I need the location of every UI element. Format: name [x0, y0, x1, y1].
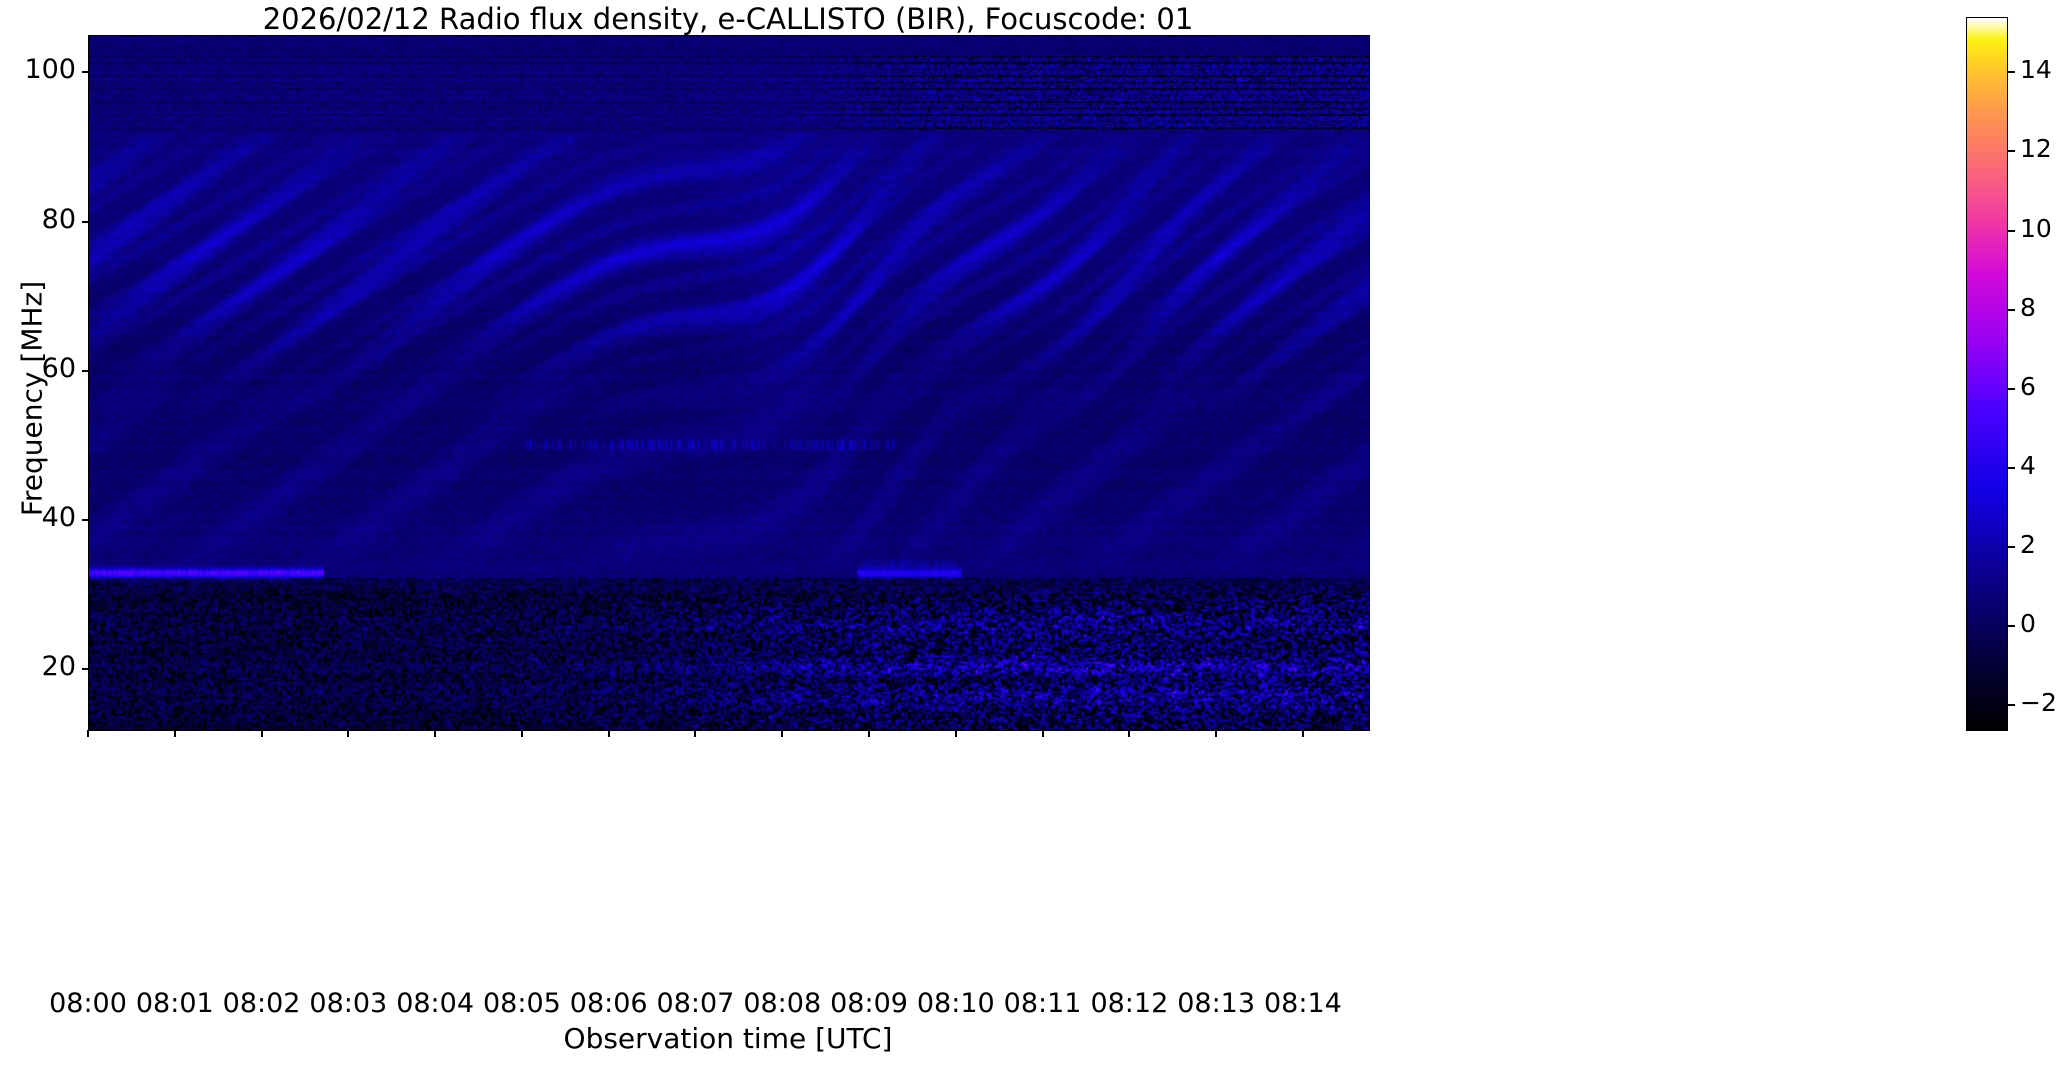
x-tick-mark [868, 730, 870, 737]
y-tick-label: 40 [0, 502, 76, 533]
colorbar[interactable] [1966, 17, 2008, 731]
spectrogram-plot[interactable] [88, 35, 1370, 731]
x-tick-mark [261, 730, 263, 737]
colorbar-tick-label: 0 [2020, 609, 2036, 638]
colorbar-tick-label: 4 [2020, 451, 2036, 480]
y-tick-label: 60 [0, 353, 76, 384]
x-tick-mark [608, 730, 610, 737]
colorbar-tick-mark [2008, 309, 2015, 311]
colorbar-tick-mark [2008, 150, 2015, 152]
y-tick-mark [82, 71, 89, 73]
colorbar-tick-mark [2008, 71, 2015, 73]
x-tick-mark [434, 730, 436, 737]
colorbar-tick-mark [2008, 625, 2015, 627]
colorbar-tick-label: 12 [2020, 134, 2052, 163]
colorbar-tick-label: 10 [2020, 214, 2052, 243]
colorbar-tick-label: 6 [2020, 372, 2036, 401]
colorbar-tick-label: 2 [2020, 530, 2036, 559]
x-tick-mark [1128, 730, 1130, 737]
colorbar-tick-mark [2008, 546, 2015, 548]
page-title: 2026/02/12 Radio flux density, e-CALLIST… [88, 2, 1368, 36]
colorbar-tick-mark [2008, 230, 2015, 232]
x-tick-mark [781, 730, 783, 737]
x-tick-label: 08:14 [1238, 988, 1368, 1019]
y-tick-mark [82, 370, 89, 372]
x-tick-mark [174, 730, 176, 737]
colorbar-tick-mark [2008, 467, 2015, 469]
x-tick-mark [521, 730, 523, 737]
spectrogram-canvas[interactable] [89, 36, 1369, 730]
colorbar-canvas [1967, 18, 2007, 730]
colorbar-tick-mark [2008, 704, 2015, 706]
y-tick-mark [82, 221, 89, 223]
x-axis-label: Observation time [UTC] [88, 1022, 1368, 1055]
x-tick-mark [347, 730, 349, 737]
colorbar-tick-mark [2008, 388, 2015, 390]
x-tick-mark [955, 730, 957, 737]
x-tick-mark [1302, 730, 1304, 737]
colorbar-tick-label: −2 [2020, 688, 2057, 717]
y-tick-label: 80 [0, 204, 76, 235]
y-tick-mark [82, 519, 89, 521]
x-tick-mark [1215, 730, 1217, 737]
x-tick-mark [87, 730, 89, 737]
colorbar-tick-label: 8 [2020, 293, 2036, 322]
y-tick-label: 100 [0, 54, 76, 85]
x-tick-mark [694, 730, 696, 737]
colorbar-tick-label: 14 [2020, 55, 2052, 84]
y-tick-mark [82, 668, 89, 670]
figure-root: 2026/02/12 Radio flux density, e-CALLIST… [0, 0, 2066, 1067]
x-tick-mark [1042, 730, 1044, 737]
y-tick-label: 20 [0, 651, 76, 682]
